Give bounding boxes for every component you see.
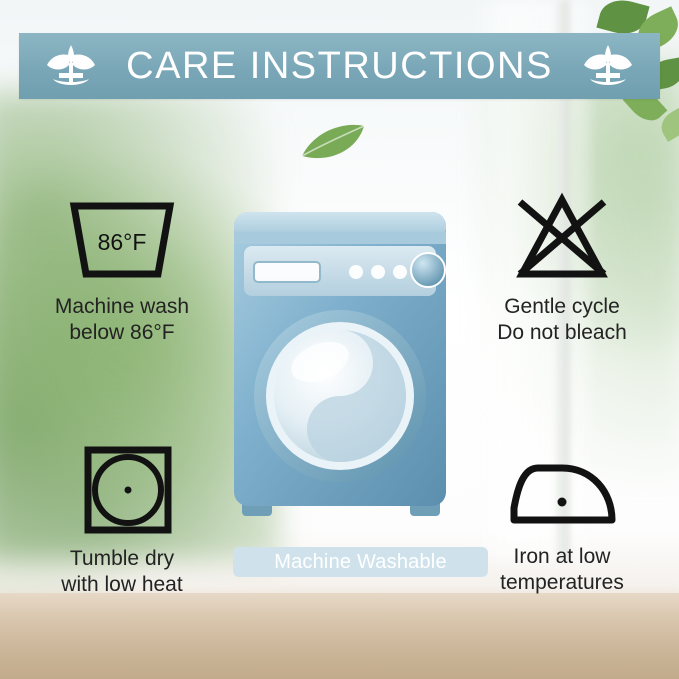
tumble-dry-icon: [12, 442, 232, 538]
wash-temperature-text: 86°F: [98, 229, 147, 255]
fleur-de-lis-icon: [41, 43, 101, 89]
care-icon-label: Machine wash below 86°F: [12, 294, 232, 345]
triangle-crossed-icon: [452, 190, 672, 286]
fleur-de-lis-icon: [578, 43, 638, 89]
floating-leaf-icon: [298, 122, 368, 164]
washing-machine-illustration: [228, 206, 452, 536]
care-icon-label: Gentle cycle Do not bleach: [452, 294, 672, 345]
iron-icon: [452, 452, 672, 536]
care-icon-gentle-cycle: Gentle cycle Do not bleach: [452, 190, 672, 345]
care-instructions-card: CARE INSTRUCTIONS 86°F Machine wash belo…: [0, 0, 679, 679]
header-banner: CARE INSTRUCTIONS: [19, 33, 660, 99]
page-title: CARE INSTRUCTIONS: [126, 45, 553, 88]
wash-tub-icon: 86°F: [12, 190, 232, 286]
care-icon-tumble-dry: Tumble dry with low heat: [12, 442, 232, 597]
machine-washable-badge: Machine Washable: [233, 547, 488, 577]
badge-label: Machine Washable: [274, 551, 447, 574]
wooden-table-surface: [0, 593, 679, 679]
care-icon-label: Tumble dry with low heat: [12, 546, 232, 597]
care-icon-machine-wash: 86°F Machine wash below 86°F: [12, 190, 232, 345]
